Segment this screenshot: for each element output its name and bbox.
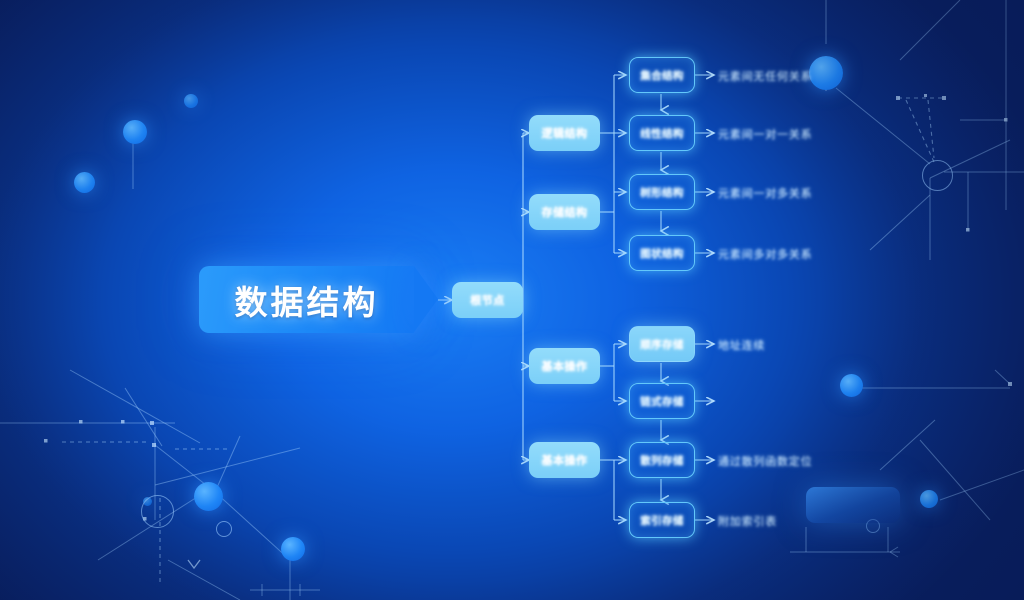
leaf-annotation-text: 附加索引表	[718, 516, 777, 528]
leaf-node-label: 散列存储	[640, 453, 684, 468]
leaf-node[interactable]: 线性结构	[629, 115, 695, 151]
branch-node-label: 逻辑结构	[542, 125, 588, 141]
leaf-annotation: 元素间一对一关系	[718, 126, 812, 142]
root-node-label: 根节点	[470, 292, 505, 308]
leaf-node[interactable]: 散列存储	[629, 442, 695, 478]
infographic-canvas: 数据结构 根节点 逻辑结构 存储结构 基本操作 基本操作 集合结构 线性结构 树…	[0, 0, 1024, 600]
leaf-node[interactable]: 链式存储	[629, 383, 695, 419]
leaf-node[interactable]: 图状结构	[629, 235, 695, 271]
leaf-node[interactable]: 树形结构	[629, 174, 695, 210]
leaf-node-label: 树形结构	[640, 185, 684, 200]
branch-node-storage[interactable]: 存储结构	[529, 194, 600, 230]
leaf-node-label: 索引存储	[640, 513, 684, 528]
branch-node-label: 存储结构	[542, 204, 588, 220]
branch-node-label: 基本操作	[542, 452, 588, 468]
leaf-node-label: 顺序存储	[640, 337, 684, 352]
leaf-annotation-text: 元素间一对一关系	[718, 129, 812, 141]
leaf-node-label: 线性结构	[640, 126, 684, 141]
leaf-annotation: 地址连续	[718, 337, 765, 353]
leaf-annotation-text: 元素间一对多关系	[718, 188, 812, 200]
leaf-node-label: 链式存储	[640, 394, 684, 409]
leaf-node-label: 集合结构	[640, 68, 684, 83]
branch-node-operations-alt[interactable]: 基本操作	[529, 442, 600, 478]
leaf-annotation-text: 元素间多对多关系	[718, 249, 812, 261]
leaf-annotation: 附加索引表	[718, 513, 777, 529]
branch-node-logical[interactable]: 逻辑结构	[529, 115, 600, 151]
leaf-annotation-text: 地址连续	[718, 340, 765, 352]
leaf-node[interactable]: 顺序存储	[629, 326, 695, 362]
page-title: 数据结构	[199, 266, 414, 333]
leaf-annotation: 元素间无任何关系	[718, 68, 812, 84]
branch-node-operations[interactable]: 基本操作	[529, 348, 600, 384]
leaf-node[interactable]: 集合结构	[629, 57, 695, 93]
banner-arrow-tip	[414, 266, 438, 332]
leaf-node-label: 图状结构	[640, 246, 684, 261]
leaf-annotation-text: 元素间无任何关系	[718, 71, 812, 83]
leaf-annotation: 元素间一对多关系	[718, 185, 812, 201]
branch-node-label: 基本操作	[542, 358, 588, 374]
leaf-annotation-text: 通过散列函数定位	[718, 456, 812, 468]
root-node[interactable]: 根节点	[452, 282, 523, 318]
leaf-node[interactable]: 索引存储	[629, 502, 695, 538]
page-title-label: 数据结构	[235, 276, 379, 324]
leaf-annotation: 通过散列函数定位	[718, 453, 812, 469]
leaf-annotation: 元素间多对多关系	[718, 246, 812, 262]
